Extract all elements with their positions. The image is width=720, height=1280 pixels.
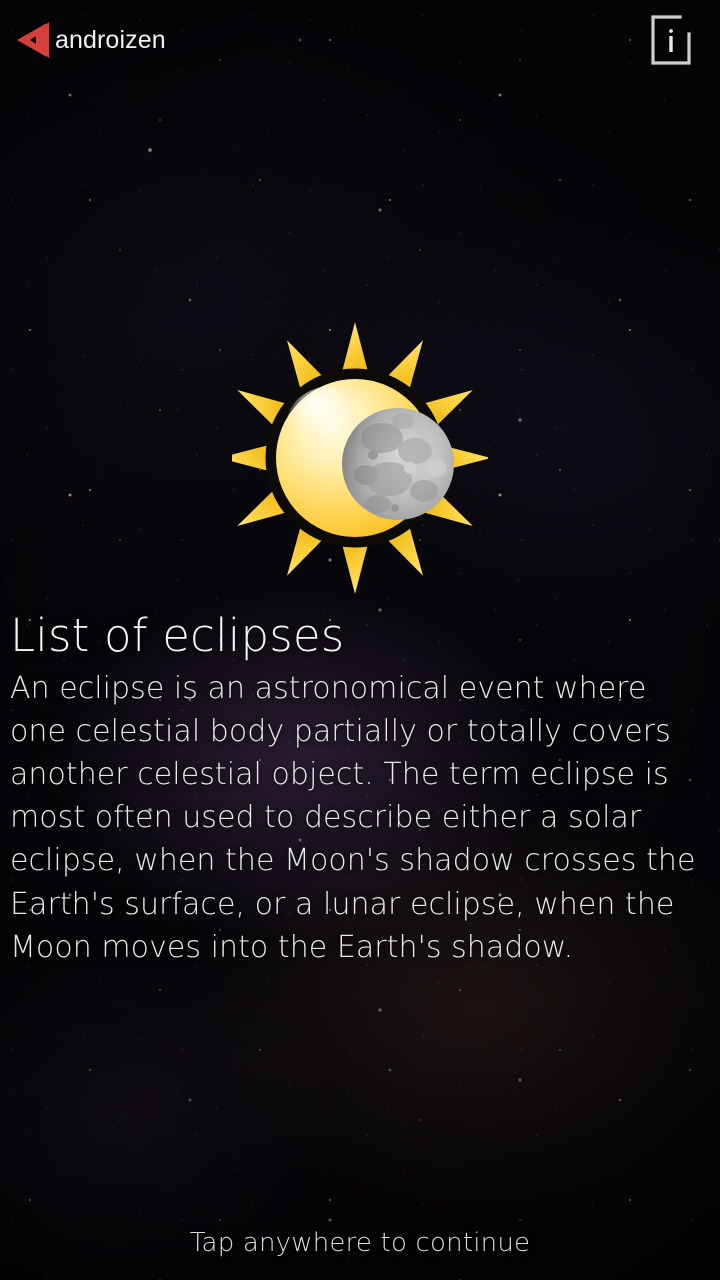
solar-eclipse-icon — [232, 318, 488, 598]
info-button[interactable] — [644, 12, 698, 68]
info-icon — [644, 12, 698, 68]
androizen-left-arrow-logo-icon — [16, 22, 49, 58]
hero-illustration — [0, 318, 720, 598]
page-body-text: An eclipse is an astronomical event wher… — [10, 667, 710, 969]
moon-disc — [342, 408, 454, 520]
brand-name-label: androizen — [55, 28, 166, 53]
splash-screen[interactable]: androizen — [0, 0, 720, 1280]
page-title: List of eclipses — [10, 612, 710, 661]
tap-to-continue-hint[interactable]: Tap anywhere to continue — [0, 1228, 720, 1258]
top-bar: androizen — [0, 0, 720, 80]
intro-content: List of eclipses An eclipse is an astron… — [0, 612, 720, 969]
brand-logo[interactable]: androizen — [16, 22, 166, 58]
